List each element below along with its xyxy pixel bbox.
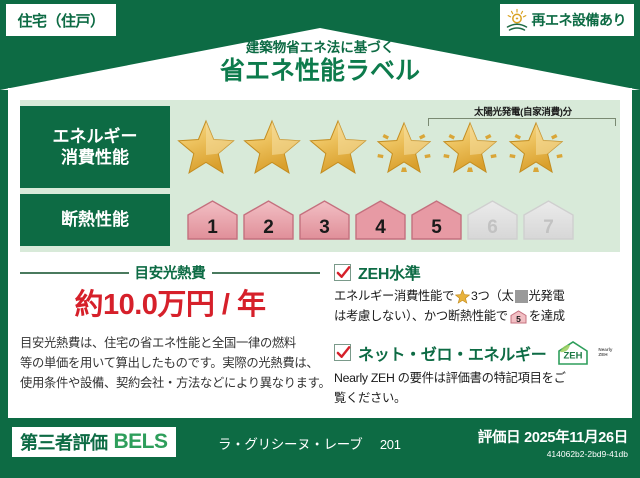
zeh-standard-line2: は考慮しない）、かつ断熱性能で 5 を達成	[334, 307, 620, 327]
zeh-standard-line1-a: エネルギー消費性能で	[334, 287, 454, 307]
renewable-equipment-label: 再エネ設備あり	[532, 10, 627, 30]
renewable-equipment-badge: 再エネ設備あり	[500, 4, 635, 36]
energy-performance-label-block: エネルギー 消費性能	[20, 106, 170, 188]
insulation-levels-area: 1 2 3 4	[170, 194, 620, 246]
star-icon	[455, 289, 470, 304]
performance-panel: エネルギー 消費性能 太陽光発電(自家消費)分	[20, 100, 620, 252]
zeh-standard-title: ZEH水準	[358, 260, 421, 284]
utility-cost-note-line3: 使用条件や設備、契約会社・方法などにより異なります。	[20, 374, 320, 394]
zeh-logo-icon: ZEH	[556, 340, 590, 366]
net-zero-title: ネット・ゼロ・エネルギー	[358, 341, 546, 365]
zeh-standard-heading-row: ZEH水準	[334, 260, 620, 284]
building-type-label: 住宅（住戸）	[17, 10, 104, 31]
evaluation-info: 評価日 2025年11月26日 414062b2-2bd9-41db	[478, 426, 628, 459]
insulation-level-4: 4	[354, 199, 407, 241]
utility-cost-column: 目安光熱費 約10.0万円 / 年 目安光熱費は、住宅の省エネ性能と全国一律の燃…	[20, 260, 320, 408]
energy-label-line2: 消費性能	[61, 147, 129, 168]
insulation-level-number: 4	[354, 218, 407, 237]
svg-text:ZEH: ZEH	[564, 350, 583, 361]
insulation-level-7: 7	[522, 199, 575, 241]
property-name: ラ・グリシーヌ・レーブ	[218, 437, 362, 452]
building-type-badge: 住宅（住戸）	[6, 4, 116, 36]
bels-badge-en-label: BELS	[114, 430, 168, 454]
net-zero-description: Nearly ZEH の要件は評価書の特記項目をご 覧ください。	[334, 369, 620, 409]
insulation-level-3: 3	[298, 199, 351, 241]
net-zero-line1: Nearly ZEH の要件は評価書の特記項目をご	[334, 369, 620, 389]
bels-badge-jp-label: 第三者評価	[20, 429, 108, 455]
star-rating	[174, 114, 568, 178]
star-filled	[174, 114, 238, 178]
insulation-level-number: 7	[522, 218, 575, 237]
net-zero-line2: 覧ください。	[334, 389, 620, 409]
zeh-logo-tag-line2: ZEH	[598, 353, 612, 358]
zeh-standard-line2-b: を達成	[529, 307, 565, 327]
label-body-card: エネルギー 消費性能 太陽光発電(自家消費)分	[8, 88, 632, 418]
insulation-level-1: 1	[186, 199, 239, 241]
star-solar	[372, 114, 436, 178]
footer-bar: 第三者評価 BELS ラ・グリシーヌ・レーブ 201 評価日 2025年11月2…	[0, 418, 640, 478]
property-number: 201	[380, 437, 401, 452]
zeh-standard-description: エネルギー消費性能で 3つ（太 光発電 は考慮しない）、かつ断熱性能で 5	[334, 287, 620, 327]
insulation-level-number: 2	[242, 218, 295, 237]
utility-cost-heading: 目安光熱費	[135, 262, 206, 283]
redacted-character	[515, 290, 528, 303]
checkbox-checked	[334, 264, 351, 281]
insulation-level-number: 1	[186, 218, 239, 237]
evaluation-date: 評価日 2025年11月26日	[478, 426, 628, 447]
zeh-standard-line1-c: 光発電	[529, 287, 565, 307]
energy-label-line1: エネルギー	[53, 126, 138, 147]
zeh-standard-line2-a: は考慮しない）、かつ断熱性能で	[334, 307, 508, 327]
energy-performance-label: 住宅（住戸） 再エネ設備あり 建築物省エネ法に基づく 省エネ性能ラベル	[0, 0, 640, 478]
property-name-row: ラ・グリシーヌ・レーブ 201	[218, 433, 401, 453]
energy-performance-row: エネルギー 消費性能 太陽光発電(自家消費)分	[20, 106, 620, 188]
zeh-standard-line1: エネルギー消費性能で 3つ（太 光発電	[334, 287, 620, 307]
insulation-label: 断熱性能	[61, 209, 129, 230]
zeh-logo-tag: Nearly ZEH	[598, 348, 612, 358]
zeh-column: ZEH水準 エネルギー消費性能で 3つ（太 光発電 は考慮しない）、かつ断熱性能…	[320, 260, 620, 408]
insulation-level-number: 3	[298, 218, 351, 237]
star-filled	[306, 114, 370, 178]
insulation-level-5: 5	[410, 199, 463, 241]
insulation-level-badge: 5	[510, 310, 527, 324]
insulation-level-scale: 1 2 3 4	[186, 199, 575, 241]
bels-badge: 第三者評価 BELS	[12, 427, 176, 457]
star-solar	[504, 114, 568, 178]
insulation-performance-row: 断熱性能 1	[20, 194, 620, 246]
checkbox-checked	[334, 344, 351, 361]
star-filled	[240, 114, 304, 178]
utility-cost-value: 約10.0万円 / 年	[20, 290, 320, 322]
utility-cost-note-line1: 目安光熱費は、住宅の省エネ性能と全国一律の燃料	[20, 334, 320, 354]
energy-stars-area: 太陽光発電(自家消費)分	[170, 106, 620, 188]
zeh-standard-line1-b: 3つ（太	[471, 287, 514, 307]
divider-left	[20, 272, 129, 274]
utility-cost-heading-row: 目安光熱費	[20, 262, 320, 283]
divider-right	[212, 272, 321, 274]
insulation-level-number: 6	[466, 218, 519, 237]
net-zero-heading-row: ネット・ゼロ・エネルギー ZEH Nearly ZEH	[334, 340, 620, 366]
insulation-level-6: 6	[466, 199, 519, 241]
utility-cost-note: 目安光熱費は、住宅の省エネ性能と全国一律の燃料 等の単価を用いて算出したものです…	[20, 334, 320, 394]
insulation-level-2: 2	[242, 199, 295, 241]
insulation-level-badge-number: 5	[510, 315, 527, 324]
evaluation-id: 414062b2-2bd9-41db	[478, 449, 628, 459]
insulation-level-number: 5	[410, 218, 463, 237]
star-solar	[438, 114, 502, 178]
roof-shape	[0, 28, 640, 90]
solar-sun-icon	[505, 8, 529, 32]
utility-cost-note-line2: 等の単価を用いて算出したものです。実際の光熱費は、	[20, 354, 320, 374]
lower-section: 目安光熱費 約10.0万円 / 年 目安光熱費は、住宅の省エネ性能と全国一律の燃…	[20, 260, 620, 408]
insulation-performance-label-block: 断熱性能	[20, 194, 170, 246]
